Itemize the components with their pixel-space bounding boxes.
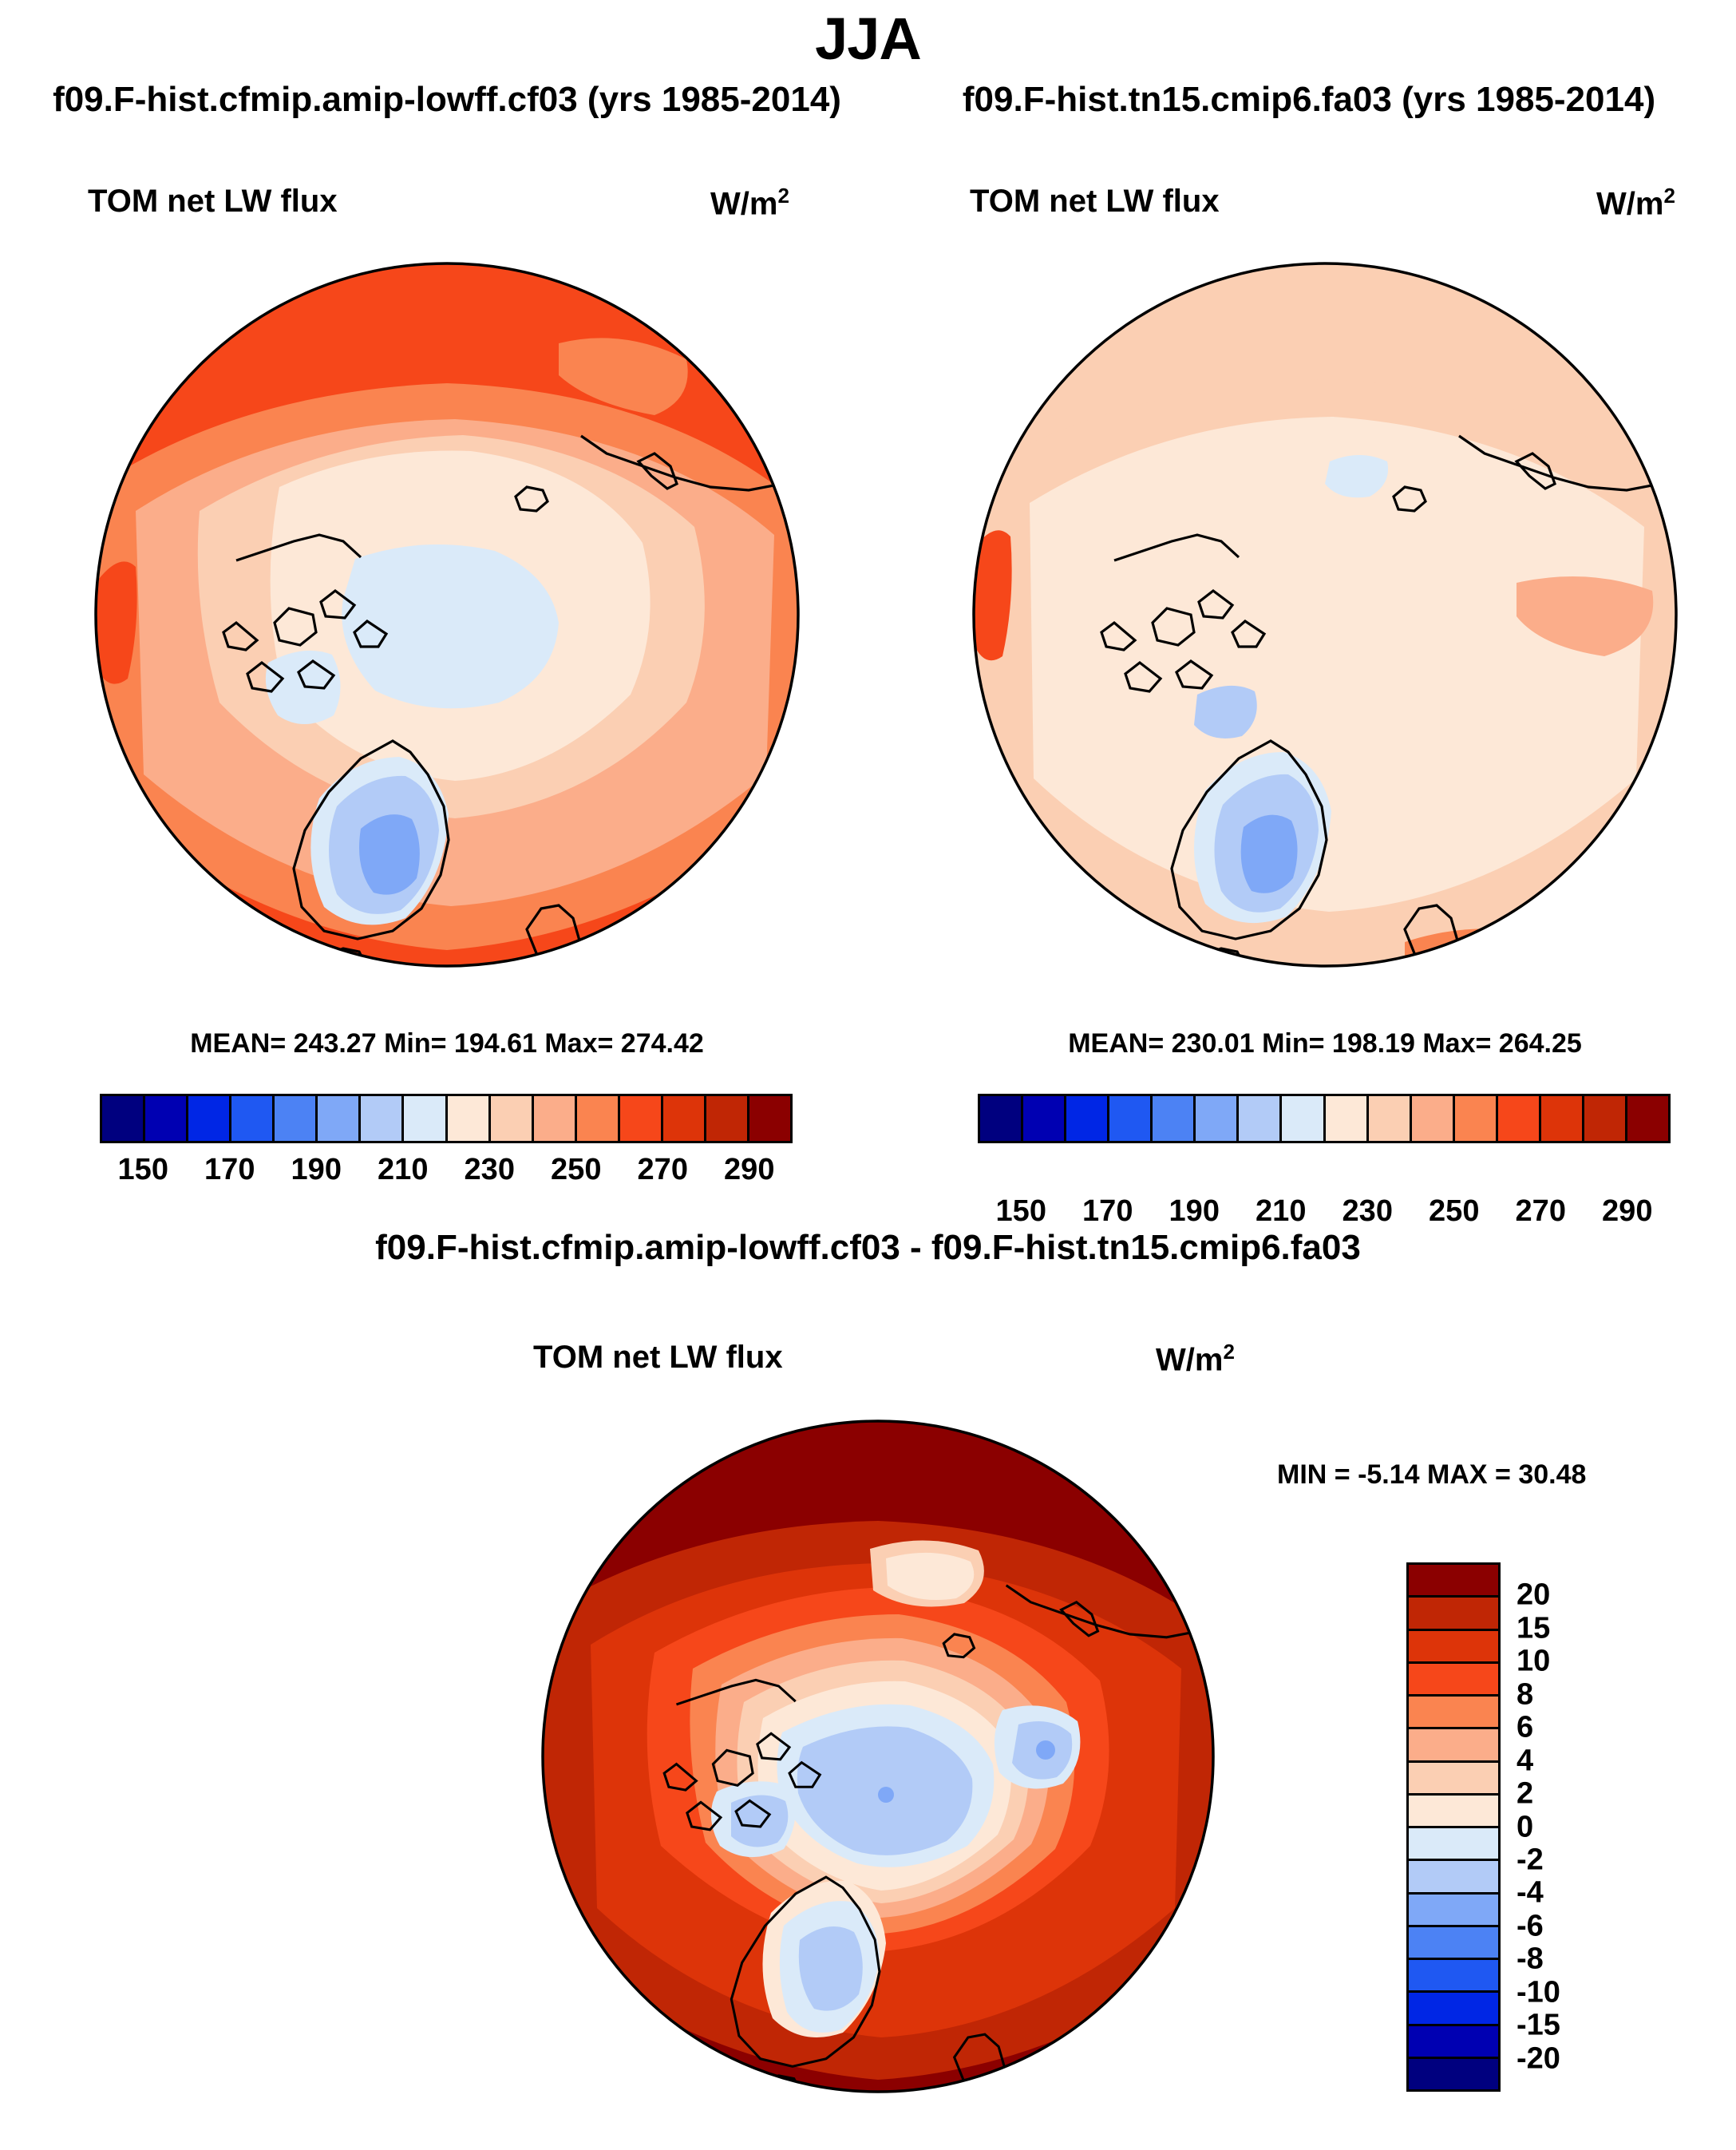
left-panel-variable-label: TOM net LW flux: [88, 184, 338, 220]
colorbar-cell: [1409, 1861, 1498, 1894]
colorbar-cell: [1409, 1828, 1498, 1861]
right-colorbar[interactable]: [978, 1094, 1671, 1143]
colorbar-cell: [1409, 1729, 1498, 1762]
right-panel-units: W/m2: [1596, 184, 1675, 222]
left-polar-map: [80, 247, 814, 982]
colorbar-cell: [448, 1096, 491, 1141]
colorbar-cell: [1409, 2059, 1498, 2089]
colorbar-tick-label: 10: [1517, 1645, 1550, 1679]
colorbar-cell: [1282, 1096, 1325, 1141]
right-polar-map: [958, 247, 1692, 982]
left-panel-stats: MEAN= 243.27 Min= 194.61 Max= 274.42: [80, 1028, 814, 1059]
colorbar-tick-label: 8: [1517, 1677, 1533, 1712]
season-title: JJA: [0, 5, 1736, 73]
colorbar-cell: [1409, 1796, 1498, 1828]
colorbar-cell: [1196, 1096, 1239, 1141]
difference-colorbar[interactable]: [1406, 1562, 1501, 2092]
colorbar-cell: [534, 1096, 577, 1141]
left-units-exponent: 2: [777, 184, 789, 208]
colorbar-cell: [1409, 1664, 1498, 1697]
colorbar-tick-label: -2: [1517, 1843, 1544, 1877]
colorbar-cell: [1455, 1096, 1498, 1141]
difference-colorbar-labels: 20151086420-2-4-6-8-10-15-20: [1517, 1562, 1660, 2092]
colorbar-cell: [404, 1096, 447, 1141]
colorbar-cell: [1409, 1993, 1498, 2025]
colorbar-cell: [1239, 1096, 1282, 1141]
difference-minmax: MIN = -5.14 MAX = 30.48: [1277, 1459, 1586, 1491]
colorbar-cell: [1409, 1763, 1498, 1796]
colorbar-tick-label: 230: [1343, 1194, 1393, 1229]
right-units-exponent: 2: [1663, 184, 1675, 208]
colorbar-tick-label: -20: [1517, 2041, 1560, 2076]
colorbar-cell: [706, 1096, 749, 1141]
colorbar-cell: [102, 1096, 145, 1141]
colorbar-cell: [1412, 1096, 1455, 1141]
right-panel-variable-label: TOM net LW flux: [970, 184, 1220, 220]
colorbar-tick-label: 6: [1517, 1711, 1533, 1745]
colorbar-tick-label: 2: [1517, 1777, 1533, 1811]
left-colorbar-labels: 150170190210230250270290: [100, 1153, 793, 1194]
colorbar-tick-label: 210: [1256, 1194, 1306, 1229]
colorbar-tick-label: 230: [465, 1153, 515, 1187]
colorbar-cell: [361, 1096, 404, 1141]
colorbar-cell: [1409, 1895, 1498, 1927]
colorbar-cell: [1409, 1960, 1498, 1993]
right-panel-case-title: f09.F-hist.tn15.cmip6.fa03 (yrs 1985-201…: [882, 80, 1736, 120]
difference-units: W/m2: [1156, 1340, 1235, 1378]
difference-variable-label: TOM net LW flux: [533, 1340, 783, 1376]
colorbar-cell: [1627, 1096, 1668, 1141]
colorbar-cell: [275, 1096, 318, 1141]
colorbar-cell: [1409, 2026, 1498, 2059]
colorbar-tick-label: -4: [1517, 1876, 1544, 1910]
difference-units-text: W/m: [1156, 1342, 1223, 1377]
colorbar-cell: [491, 1096, 534, 1141]
right-panel-stats: MEAN= 230.01 Min= 198.19 Max= 264.25: [958, 1028, 1692, 1059]
colorbar-cell: [1369, 1096, 1412, 1141]
colorbar-tick-label: 250: [551, 1153, 601, 1187]
colorbar-tick-label: 150: [118, 1153, 168, 1187]
colorbar-cell: [1153, 1096, 1196, 1141]
colorbar-tick-label: 170: [1082, 1194, 1133, 1229]
colorbar-tick-label: 20: [1517, 1578, 1550, 1613]
colorbar-tick-label: 250: [1429, 1194, 1479, 1229]
colorbar-cell: [1584, 1096, 1627, 1141]
colorbar-cell: [749, 1096, 790, 1141]
colorbar-tick-label: 290: [1602, 1194, 1652, 1229]
difference-polar-map: [527, 1405, 1229, 2108]
colorbar-cell: [1409, 1631, 1498, 1664]
colorbar-cell: [231, 1096, 275, 1141]
colorbar-cell: [1326, 1096, 1369, 1141]
left-panel-units: W/m2: [710, 184, 789, 222]
difference-units-exponent: 2: [1223, 1340, 1234, 1364]
left-colorbar[interactable]: [100, 1094, 793, 1143]
right-units-text: W/m: [1596, 186, 1663, 221]
left-panel-case-title: f09.F-hist.cfmip.amip-lowff.cf03 (yrs 19…: [0, 80, 894, 120]
colorbar-tick-label: 210: [378, 1153, 428, 1187]
left-units-text: W/m: [710, 186, 777, 221]
colorbar-tick-label: 170: [204, 1153, 255, 1187]
colorbar-tick-label: -6: [1517, 1909, 1544, 1943]
colorbar-cell: [1409, 1927, 1498, 1960]
colorbar-cell: [980, 1096, 1023, 1141]
colorbar-tick-label: -10: [1517, 1975, 1560, 2009]
colorbar-cell: [620, 1096, 663, 1141]
colorbar-cell: [1023, 1096, 1066, 1141]
colorbar-tick-label: -8: [1517, 1942, 1544, 1977]
colorbar-tick-label: 290: [724, 1153, 774, 1187]
colorbar-cell: [1066, 1096, 1109, 1141]
colorbar-tick-label: 190: [1169, 1194, 1220, 1229]
colorbar-cell: [1498, 1096, 1541, 1141]
colorbar-cell: [145, 1096, 188, 1141]
colorbar-cell: [1109, 1096, 1153, 1141]
colorbar-tick-label: 0: [1517, 1810, 1533, 1844]
colorbar-cell: [1409, 1565, 1498, 1598]
colorbar-tick-label: 4: [1517, 1744, 1533, 1778]
colorbar-tick-label: 190: [291, 1153, 342, 1187]
colorbar-tick-label: 15: [1517, 1611, 1550, 1645]
colorbar-cell: [1409, 1598, 1498, 1630]
colorbar-tick-label: 270: [638, 1153, 688, 1187]
colorbar-tick-label: -15: [1517, 2009, 1560, 2043]
colorbar-cell: [188, 1096, 231, 1141]
colorbar-cell: [577, 1096, 620, 1141]
colorbar-cell: [663, 1096, 706, 1141]
colorbar-cell: [318, 1096, 361, 1141]
colorbar-tick-label: 150: [996, 1194, 1046, 1229]
colorbar-cell: [1409, 1697, 1498, 1729]
colorbar-cell: [1541, 1096, 1584, 1141]
colorbar-tick-label: 270: [1516, 1194, 1566, 1229]
difference-case-title: f09.F-hist.cfmip.amip-lowff.cf03 - f09.F…: [0, 1228, 1736, 1268]
